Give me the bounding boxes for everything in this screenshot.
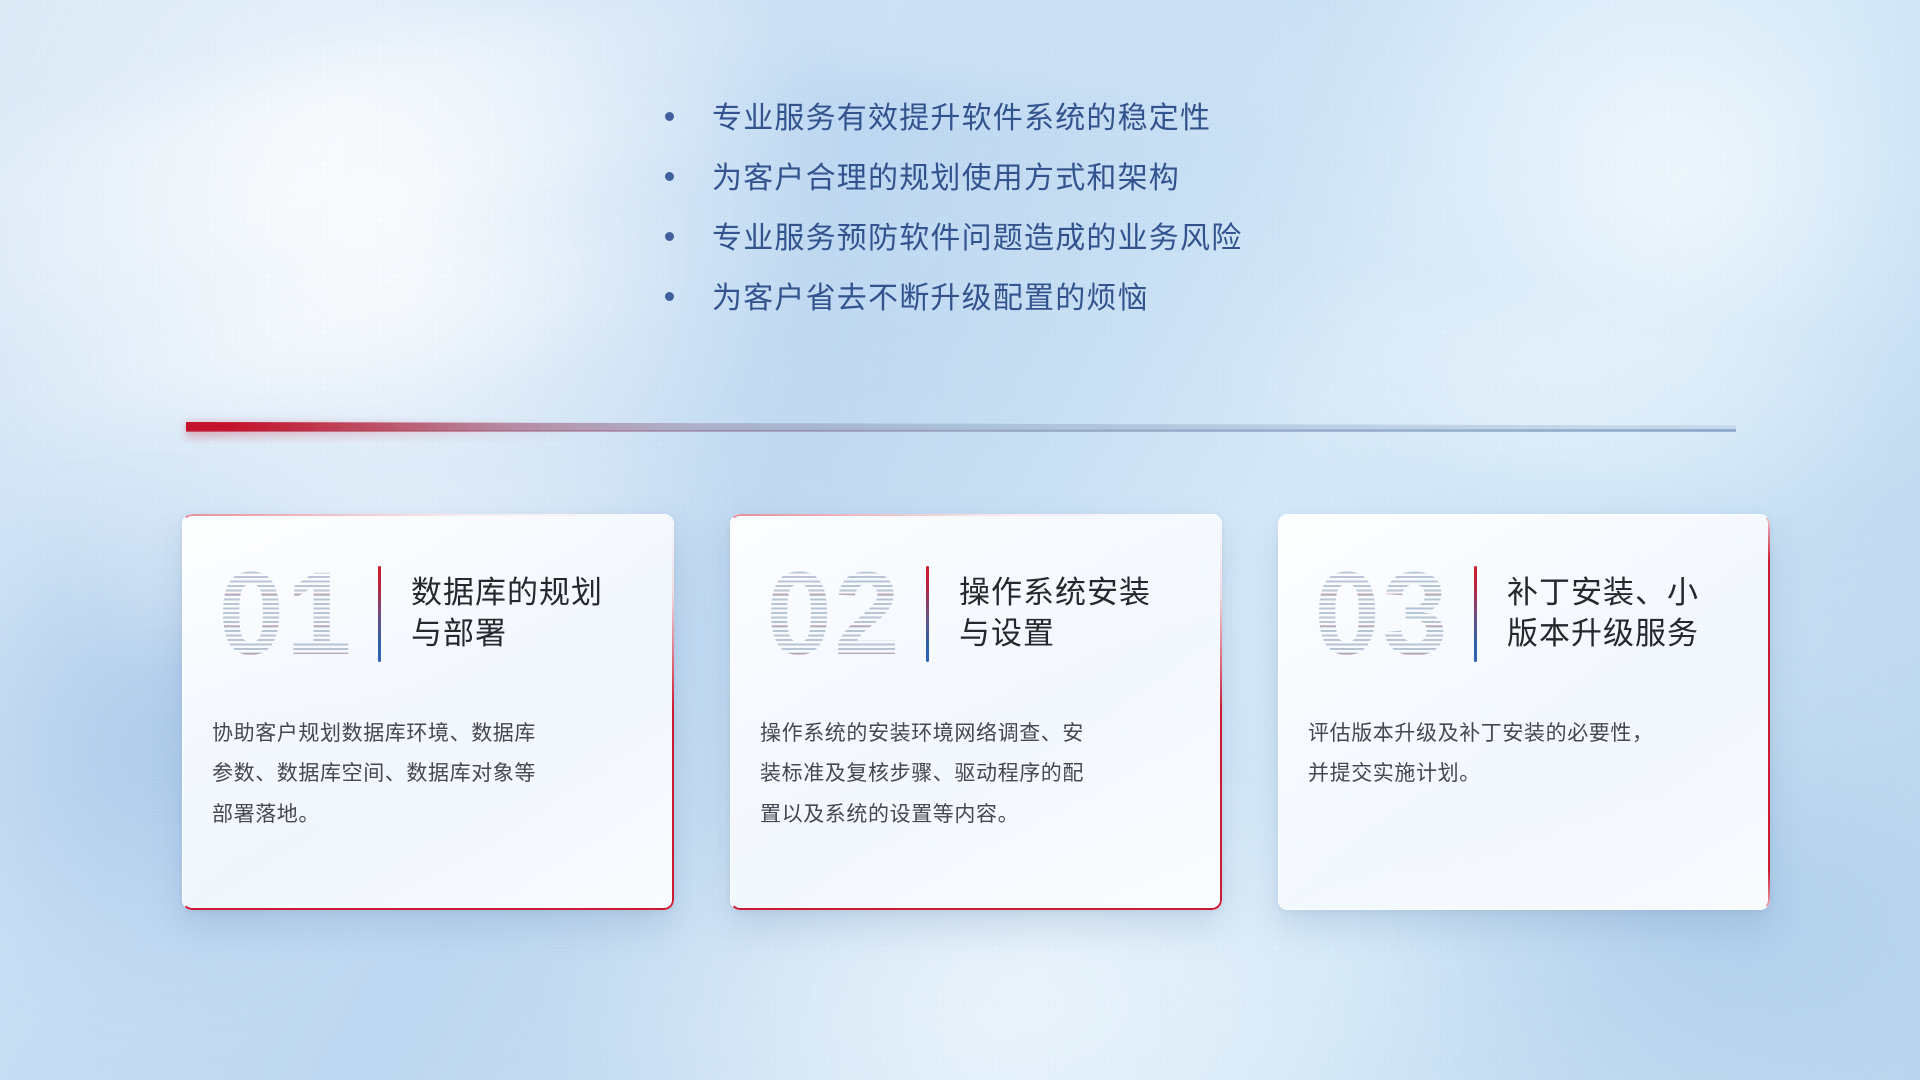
card-header: 02 02 操作系统安装 与设置 xyxy=(730,514,1222,714)
card-number-watermark: 02 02 xyxy=(754,549,914,679)
service-card-01[interactable]: 01 01 数据库的规划 与部署 协助客户规划数据库环境、数据库 参数、数据库空… xyxy=(182,514,674,910)
card-body-text: 协助客户规划数据库环境、数据库 参数、数据库空间、数据库对象等 部署落地。 xyxy=(182,714,674,835)
list-item: 专业服务预防软件问题造成的业务风险 xyxy=(665,224,1425,254)
bullet-dot-icon xyxy=(665,292,674,301)
list-item: 为客户省去不断升级配置的烦恼 xyxy=(665,284,1425,314)
card-number-text: 01 xyxy=(206,549,366,679)
bullet-dot-icon xyxy=(665,172,674,181)
service-card-03[interactable]: 03 03 补丁安装、小 版本升级服务 评估版本升级及补丁安装的必要性， 并提交… xyxy=(1278,514,1770,910)
card-body-text: 操作系统的安装环境网络调查、安 装标准及复核步骤、驱动程序的配 置以及系统的设置… xyxy=(730,714,1222,835)
list-item: 为客户合理的规划使用方式和架构 xyxy=(665,164,1425,194)
benefits-bullet-list: 专业服务有效提升软件系统的稳定性 为客户合理的规划使用方式和架构 专业服务预防软… xyxy=(665,104,1425,314)
card-number-watermark: 03 03 xyxy=(1302,549,1462,679)
list-item: 专业服务有效提升软件系统的稳定性 xyxy=(665,104,1425,134)
bullet-dot-icon xyxy=(665,112,674,121)
section-divider xyxy=(186,422,1736,438)
card-divider-bar xyxy=(378,566,381,662)
card-divider-bar xyxy=(926,566,929,662)
card-number-text: 02 xyxy=(754,549,914,679)
bullet-text: 专业服务预防软件问题造成的业务风险 xyxy=(712,224,1242,254)
card-divider-bar xyxy=(1474,566,1477,662)
card-title: 补丁安装、小 版本升级服务 xyxy=(1507,573,1699,655)
bullet-text: 为客户合理的规划使用方式和架构 xyxy=(712,164,1180,194)
bullet-dot-icon xyxy=(665,232,674,241)
card-header: 03 03 补丁安装、小 版本升级服务 xyxy=(1278,514,1770,714)
card-body-text: 评估版本升级及补丁安装的必要性， 并提交实施计划。 xyxy=(1278,714,1770,795)
card-number-watermark: 01 01 xyxy=(206,549,366,679)
card-title: 操作系统安装 与设置 xyxy=(959,573,1151,655)
service-card-list: 01 01 数据库的规划 与部署 协助客户规划数据库环境、数据库 参数、数据库空… xyxy=(182,514,1770,910)
card-number-text: 03 xyxy=(1302,549,1462,679)
service-card-02[interactable]: 02 02 操作系统安装 与设置 操作系统的安装环境网络调查、安 装标准及复核步… xyxy=(730,514,1222,910)
card-title: 数据库的规划 与部署 xyxy=(411,573,603,655)
bullet-text: 专业服务有效提升软件系统的稳定性 xyxy=(712,104,1211,134)
bullet-text: 为客户省去不断升级配置的烦恼 xyxy=(712,284,1149,314)
card-header: 01 01 数据库的规划 与部署 xyxy=(182,514,674,714)
